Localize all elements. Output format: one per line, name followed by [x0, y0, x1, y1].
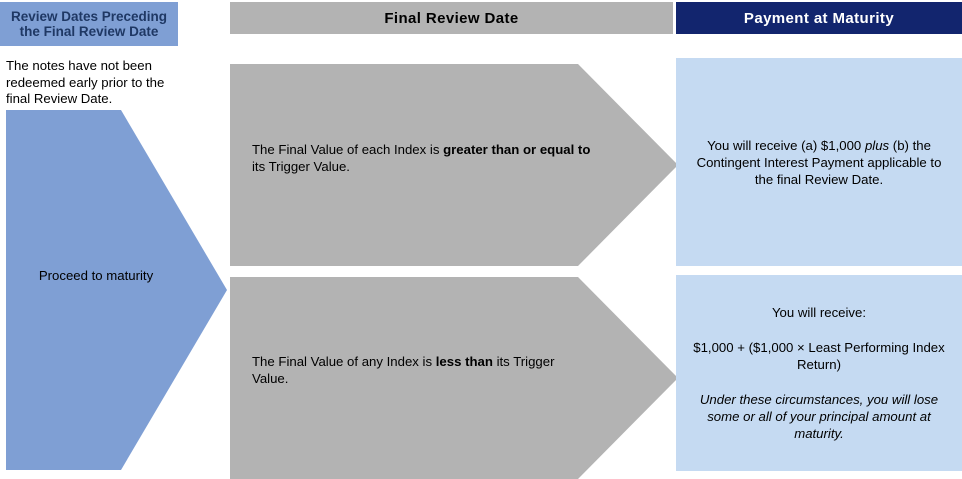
condition-text-bold: less than [436, 354, 493, 369]
condition-chevron-less-than: The Final Value of any Index is less tha… [230, 277, 678, 479]
payment-text-part1: You will receive (a) $1,000 [707, 138, 865, 153]
payment-text-italic: plus [865, 138, 889, 153]
payment-outcome-line-1: You will receive: [688, 304, 950, 321]
condition-chevron-greater-equal: The Final Value of each Index is greater… [230, 64, 678, 266]
condition-text-part2: its Trigger Value. [252, 159, 350, 174]
payment-outcome-line-2: $1,000 + ($1,000 × Least Performing Inde… [688, 339, 950, 373]
condition-text-greater-equal: The Final Value of each Index is greater… [252, 141, 592, 175]
payment-outcome-text-1: You will receive (a) $1,000 plus (b) the… [688, 137, 950, 188]
review-dates-note: The notes have not been redeemed early p… [6, 58, 181, 108]
condition-text-less-than: The Final Value of any Index is less tha… [252, 353, 592, 387]
condition-text-part1: The Final Value of any Index is [252, 354, 436, 369]
payment-outcome-line-3: Under these circumstances, you will lose… [688, 391, 950, 442]
proceed-to-maturity-arrow-shape [6, 110, 227, 470]
payment-outcome-box-2: You will receive: $1,000 + ($1,000 × Lea… [676, 275, 962, 471]
column-header-payment-at-maturity: Payment at Maturity [676, 2, 962, 34]
condition-text-bold: greater than or equal to [443, 142, 590, 157]
payment-outcome-box-1: You will receive (a) $1,000 plus (b) the… [676, 58, 962, 266]
column-header-review-dates: Review Dates Preceding the Final Review … [0, 2, 178, 46]
column-header-final-review-date: Final Review Date [230, 2, 673, 34]
proceed-to-maturity-label: Proceed to maturity [6, 268, 186, 283]
condition-text-part1: The Final Value of each Index is [252, 142, 443, 157]
flowchart-diagram: Review Dates Preceding the Final Review … [0, 0, 962, 475]
